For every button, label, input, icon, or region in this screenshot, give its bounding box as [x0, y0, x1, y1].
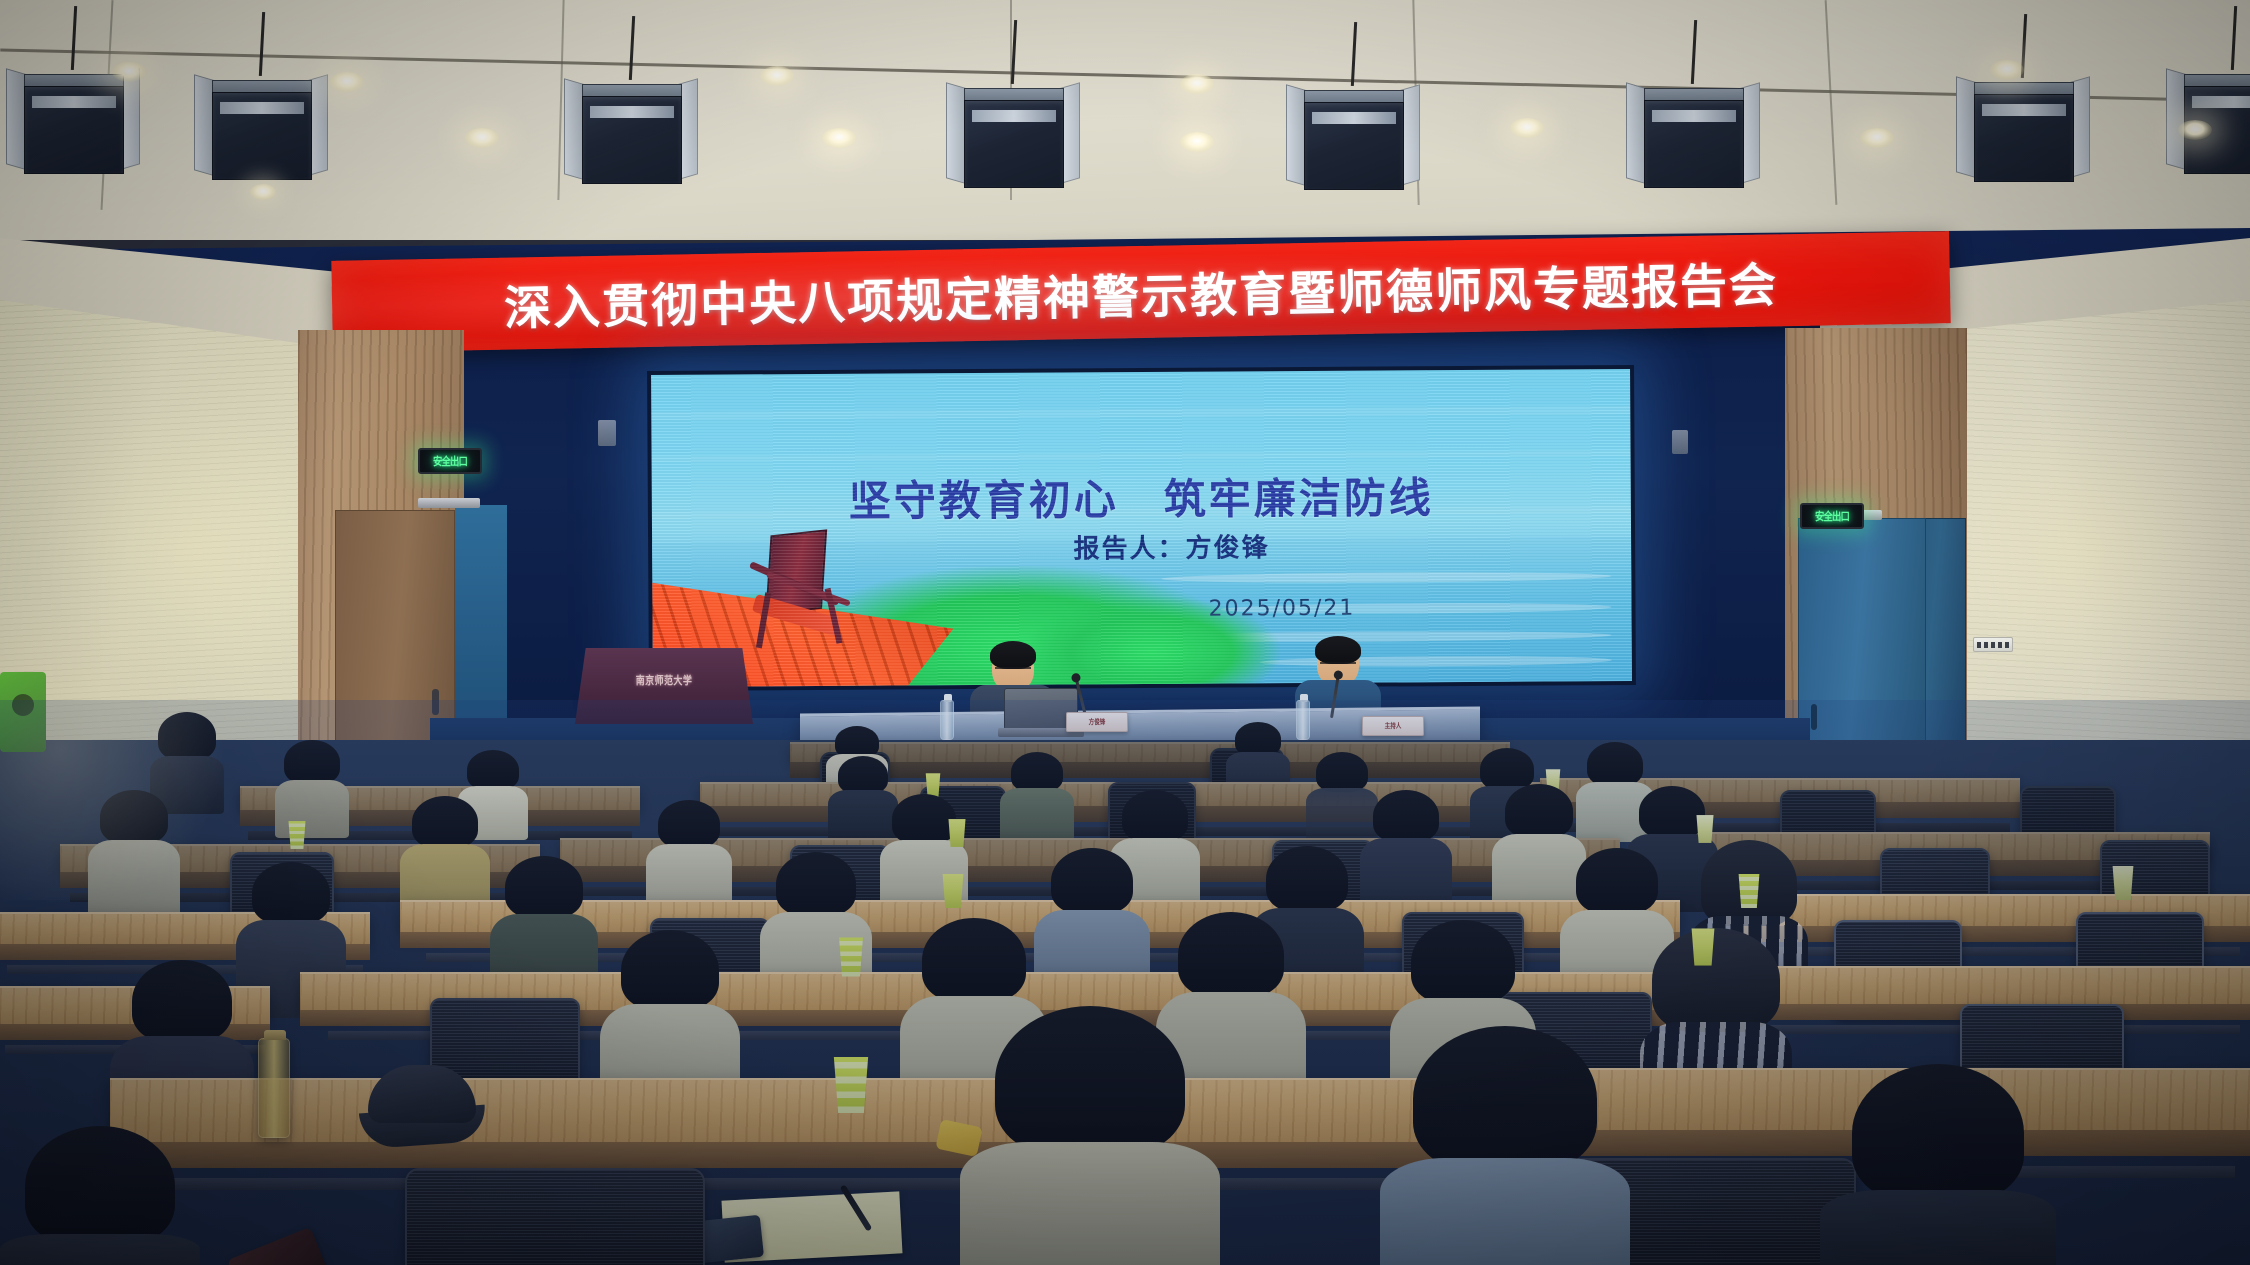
nameplate-right: 主持人: [1362, 716, 1424, 736]
tea-tumbler[interactable]: [258, 1038, 290, 1138]
cap-crown: [368, 1065, 476, 1123]
exit-sign-right: 安全出口: [1800, 503, 1864, 529]
audience-member: [88, 790, 180, 914]
ceiling-downlight: [465, 128, 499, 148]
water-bottle[interactable]: [1296, 700, 1310, 740]
nameplate-left: 方俊锋: [1066, 712, 1128, 732]
ceiling-downlight: [822, 128, 856, 148]
nameplate-label: 方俊锋: [1073, 713, 1121, 733]
switch-toggle[interactable]: [1998, 642, 2002, 648]
switch-toggle[interactable]: [1984, 642, 1988, 648]
slide-sky-band: [651, 406, 1630, 420]
table-row-foreground: [110, 1078, 1450, 1142]
stage-spotlight: [950, 82, 1078, 192]
ceiling-downlight: [250, 184, 276, 200]
lectern-label: 南京师范大学: [591, 672, 737, 688]
audience-member: [275, 740, 349, 834]
audience-member-foreground: [960, 1006, 1220, 1265]
ceiling: [0, 0, 2250, 240]
ceiling-downlight: [112, 62, 146, 82]
switch-toggle[interactable]: [1991, 642, 1995, 648]
ceiling-downlight: [330, 72, 364, 92]
audience-member-foreground: [1380, 1026, 1630, 1265]
audience-member: [646, 800, 732, 910]
tablet-device[interactable]: [696, 1215, 764, 1263]
audience-member-foreground: [0, 1126, 200, 1265]
switch-toggle[interactable]: [1977, 642, 1981, 648]
stage-spotlight: [198, 74, 326, 184]
table-row: [1760, 966, 2250, 1004]
wall-switch-panel[interactable]: [1973, 637, 2013, 652]
exit-sign-left: 安全出口: [418, 448, 482, 474]
audience-member: [400, 796, 490, 914]
lectern: 南京师范大学: [575, 648, 753, 724]
slide-title: 坚守教育初心 筑牢廉洁防线: [652, 463, 1631, 530]
slide-presenter: 报告人：方俊锋: [652, 525, 1631, 568]
switch-toggle[interactable]: [2005, 642, 2009, 648]
stage-spotlight: [1630, 82, 1758, 192]
water-bottle[interactable]: [940, 700, 954, 740]
event-banner-text: 深入贯彻中央八项规定精神警示教育暨师德师风专题报告会: [503, 246, 1778, 338]
stage-spotlight: [568, 78, 696, 188]
ceiling-downlight: [1990, 60, 2024, 80]
nameplate-label: 主持人: [1369, 717, 1417, 737]
stage-spotlight: [1960, 76, 2088, 186]
baseball-cap[interactable]: [360, 1065, 486, 1145]
table-row: [790, 742, 1510, 762]
ceiling-downlight: [1860, 128, 1894, 148]
door-handle-icon[interactable]: [432, 689, 439, 715]
stage-spotlight: [10, 68, 138, 178]
stage-spotlight: [1290, 84, 1418, 194]
exit-sign-label: 安全出口: [433, 453, 467, 469]
conference-hall-photo: 深入贯彻中央八项规定精神警示教育暨师德师风专题报告会: [0, 0, 2250, 1265]
slide-sky-band: [652, 450, 1631, 462]
ceiling-downlight: [1510, 118, 1544, 138]
door-handle-icon[interactable]: [1811, 704, 1817, 730]
door-closer: [418, 498, 480, 508]
wall-speaker-icon: [1672, 430, 1688, 454]
projection-screen: 坚守教育初心 筑牢廉洁防线 报告人：方俊锋 2025/05/21: [647, 365, 1636, 691]
ceiling-downlight: [1180, 74, 1214, 94]
slide-surface: 坚守教育初心 筑牢廉洁防线 报告人：方俊锋 2025/05/21: [651, 369, 1632, 687]
exit-sign-label: 安全出口: [1815, 508, 1849, 524]
audience-member: [1360, 790, 1452, 912]
chair[interactable]: [405, 1168, 705, 1265]
ceiling-downlight: [760, 66, 794, 86]
bag-logo: [12, 694, 34, 716]
audience-member: [1000, 752, 1074, 840]
ceiling-downlight: [2178, 120, 2212, 140]
audience-member-foreground: [1820, 1064, 2056, 1265]
wall-speaker-icon: [598, 420, 616, 446]
ceiling-downlight: [1180, 132, 1214, 152]
snack-bag[interactable]: [0, 672, 46, 752]
